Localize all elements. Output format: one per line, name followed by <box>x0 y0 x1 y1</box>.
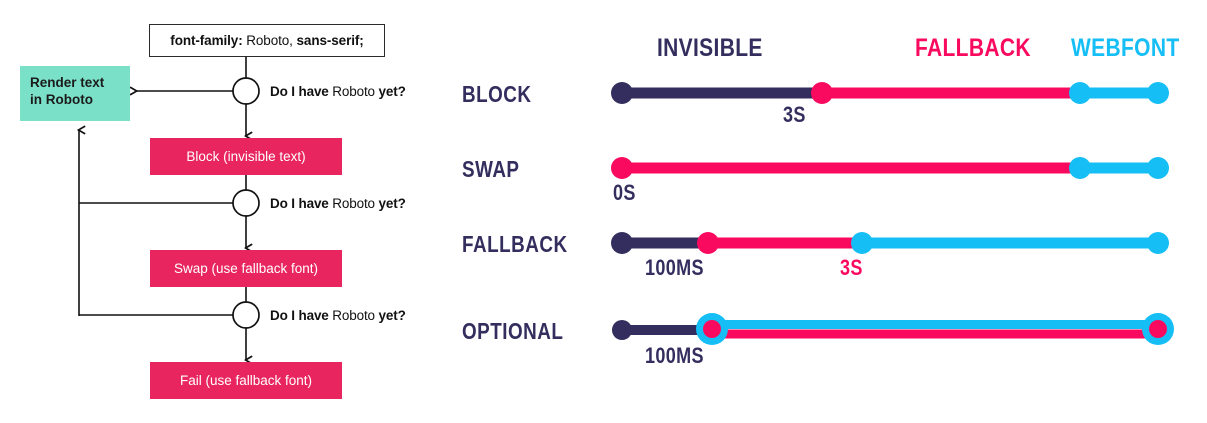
timeline-header-invisible: INVISIBLE <box>657 34 763 63</box>
decision-label-3-font: Roboto <box>332 308 375 323</box>
stage-box-fail: Fail (use fallback font) <box>150 362 342 399</box>
css-font-value: Roboto, <box>246 33 293 48</box>
decision-label-3-suffix: yet? <box>379 308 406 323</box>
font-loading-flowchart: font-family: Roboto, sans-serif; Render … <box>0 0 450 423</box>
timeline-dot-fallback-end <box>1147 232 1169 254</box>
timeline-dot-block-start <box>611 82 633 104</box>
timeline-rowlabel-optional: OPTIONAL <box>462 318 563 345</box>
timeline-rowlabel-block: BLOCK <box>462 81 532 108</box>
timeline-dot-block-3s <box>811 82 833 104</box>
timeline-header-fallback: FALLBACK <box>915 34 1031 63</box>
timeline-dot-swap-webfont <box>1069 157 1091 179</box>
stage-box-block-label: Block (invisible text) <box>186 149 305 164</box>
timeline-tick-swap-0s: 0S <box>613 180 636 206</box>
timeline-rowlabel-swap: SWAP <box>462 156 520 183</box>
css-fallback-value: sans-serif; <box>297 33 364 48</box>
css-declaration-box: font-family: Roboto, sans-serif; <box>149 24 385 57</box>
render-text-line2: in Roboto <box>30 91 121 108</box>
timeline-dot-block-end <box>1147 82 1169 104</box>
timeline-row-block-bars <box>611 82 1169 104</box>
flowchart-connectors <box>0 0 450 423</box>
stage-box-block: Block (invisible text) <box>150 138 342 175</box>
render-text-box: Render text in Roboto <box>20 66 130 121</box>
decision-node-1 <box>233 78 259 104</box>
decision-label-1-prefix: Do I have <box>270 84 329 99</box>
timeline-tick-optional-100ms: 100MS <box>645 343 704 369</box>
timeline-rowlabel-fallback: FALLBACK <box>462 231 568 258</box>
timeline-dot-swap-end <box>1147 157 1169 179</box>
timeline-dot-fallback-100ms <box>697 232 719 254</box>
timeline-tick-fallback-100ms: 100MS <box>645 255 704 281</box>
decision-label-2-prefix: Do I have <box>270 196 329 211</box>
decision-label-1: Do I have Roboto yet? <box>270 84 406 99</box>
timeline-dot-block-webfont <box>1069 82 1091 104</box>
timeline-tick-block-3s: 3S <box>783 102 806 128</box>
timeline-row-optional-bars <box>612 313 1174 345</box>
timeline-bars <box>450 0 1207 423</box>
timeline-tick-fallback-3s: 3S <box>840 255 863 281</box>
decision-label-2: Do I have Roboto yet? <box>270 196 406 211</box>
decision-label-3-prefix: Do I have <box>270 308 329 323</box>
timeline-dot-optional-end-core <box>1149 320 1167 338</box>
timeline-header-webfont: WEBFONT <box>1071 34 1180 63</box>
stage-box-swap: Swap (use fallback font) <box>150 250 342 287</box>
decision-node-3 <box>233 302 259 328</box>
decision-label-1-font: Roboto <box>332 84 375 99</box>
timeline-dot-fallback-start <box>611 232 633 254</box>
decision-node-2 <box>233 190 259 216</box>
timeline-dot-fallback-3s <box>851 232 873 254</box>
timeline-dot-swap-start <box>611 157 633 179</box>
timeline-dot-optional-100ms-core <box>703 320 721 338</box>
decision-label-2-suffix: yet? <box>379 196 406 211</box>
css-property: font-family: <box>170 33 242 48</box>
timeline-dot-optional-start <box>612 320 632 340</box>
decision-label-1-suffix: yet? <box>379 84 406 99</box>
stage-box-swap-label: Swap (use fallback font) <box>174 261 318 276</box>
stage-box-fail-label: Fail (use fallback font) <box>180 373 312 388</box>
timeline-row-swap-bars <box>611 157 1169 179</box>
decision-label-2-font: Roboto <box>332 196 375 211</box>
decision-label-3: Do I have Roboto yet? <box>270 308 406 323</box>
render-text-line1: Render text <box>30 74 121 91</box>
timeline-row-fallback-bars <box>611 232 1169 254</box>
font-display-timeline-chart: INVISIBLE FALLBACK WEBFONT BLOCK SWAP FA… <box>450 0 1207 423</box>
